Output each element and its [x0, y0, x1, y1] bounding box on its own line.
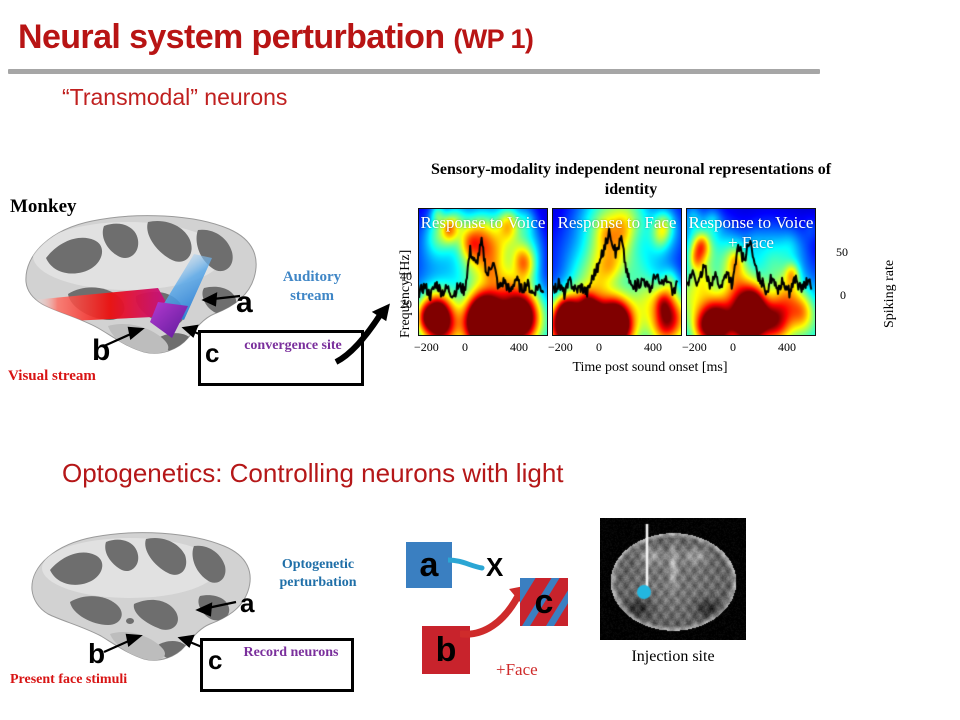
section-heading-optogenetics: Optogenetics: Controlling neurons with l… [62, 458, 564, 489]
page-title-main: Neural system perturbation [18, 18, 453, 56]
spiking-tick-0: 0 [840, 288, 846, 303]
spectrogram-panel-voice-face: Response to Voice + Face [686, 208, 816, 336]
y-tick-40: 40 [400, 269, 412, 284]
glyph-a-bottom: a [240, 588, 254, 619]
spiking-tick-50: 50 [836, 245, 848, 260]
x-tick-neg200-p2: −200 [548, 340, 573, 355]
page-title-workpackage: (WP 1) [453, 24, 533, 54]
spiking-rate-axis-label: Spiking rate [866, 228, 888, 338]
x-tick-neg200-p1: −200 [414, 340, 439, 355]
spectrogram-panel-voice: Response to Voice [418, 208, 548, 336]
plus-face-label: +Face [496, 660, 538, 680]
present-face-stimuli-label: Present face stimuli [10, 672, 127, 688]
spectrogram-x-axis-label: Time post sound onset [ms] [500, 360, 800, 376]
spectrogram-y-axis-label: Frequency [Hz] [382, 230, 404, 340]
x-tick-0-p1: 0 [462, 340, 468, 355]
title-divider [8, 69, 820, 74]
x-tick-400-p1: 400 [510, 340, 528, 355]
spectrogram-panel-face: Response to Face [552, 208, 682, 336]
page-title: Neural system perturbation (WP 1) [18, 18, 898, 57]
subtitle-transmodal-neurons: “Transmodal” neurons [62, 84, 287, 111]
node-c-label: c [535, 583, 554, 622]
record-neurons-label: Record neurons [238, 644, 344, 661]
node-a-box: a [406, 542, 452, 588]
glyph-b-top: b [92, 334, 110, 368]
visual-stream-label: Visual stream [8, 368, 96, 385]
optogenetic-perturbation-label: Optogenetic perturbation [268, 556, 368, 592]
node-b-label: b [436, 631, 457, 670]
x-tick-400-p3: 400 [778, 340, 796, 355]
glyph-a-top: a [236, 286, 253, 320]
node-a-label: a [420, 546, 439, 585]
glyph-c-bottom: c [208, 645, 222, 676]
x-tick-0-p3: 0 [730, 340, 736, 355]
x-tick-400-p2: 400 [644, 340, 662, 355]
x-tick-0-p2: 0 [596, 340, 602, 355]
y-tick-20: 20 [400, 297, 412, 312]
spectrogram-y-axis-label-text: Frequency [Hz] [398, 250, 414, 338]
node-c-box: c [520, 578, 568, 626]
injection-site-image [600, 518, 746, 640]
x-tick-neg200-p3: −200 [682, 340, 707, 355]
glyph-b-bottom: b [88, 638, 105, 670]
glyph-c-top: c [205, 338, 219, 369]
blocked-marker-x: X [486, 552, 503, 583]
injection-site-caption: Injection site [598, 648, 748, 666]
spectrogram-figure-title: Sensory-modality independent neuronal re… [416, 160, 846, 200]
spiking-rate-axis-label-text: Spiking rate [882, 260, 898, 328]
